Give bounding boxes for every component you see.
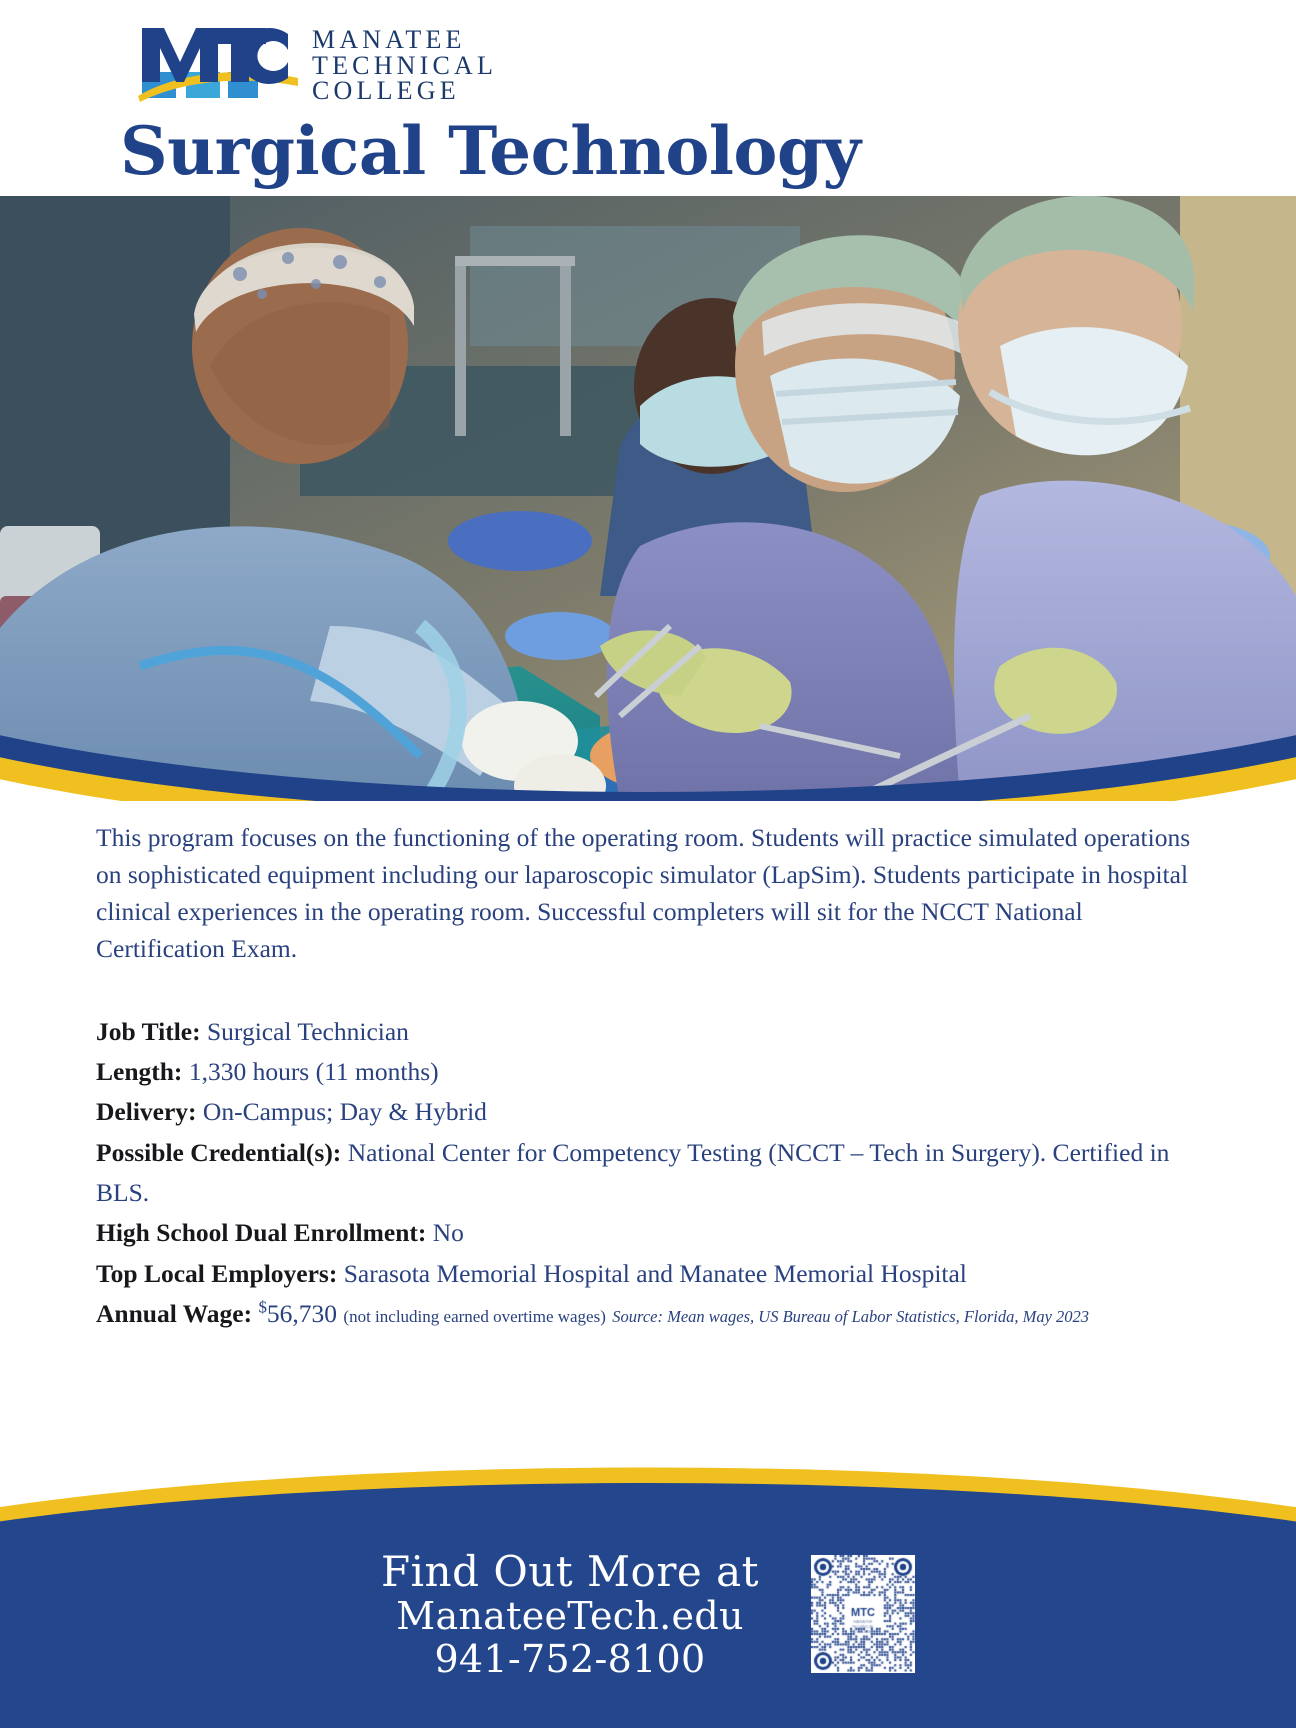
- fact-value: Surgical Technician: [207, 1017, 409, 1046]
- footer-contact: Find Out More at ManateeTech.edu 941-752…: [381, 1548, 759, 1680]
- operating-room-image: [0, 196, 1296, 801]
- fact-value: Sarasota Memorial Hospital and Manatee M…: [344, 1259, 967, 1288]
- mtc-logo: MANATEE TECHNICAL COLLEGE: [138, 22, 497, 106]
- footer-content: Find Out More at ManateeTech.edu 941-752…: [0, 1498, 1296, 1728]
- mtc-logo-wordmark: MANATEE TECHNICAL COLLEGE: [312, 27, 497, 104]
- currency-symbol: $: [259, 1297, 267, 1316]
- fact-label: Possible Credential(s):: [96, 1138, 341, 1167]
- program-description: This program focuses on the functioning …: [96, 820, 1200, 968]
- fact-top-local-employers: Top Local Employers: Sarasota Memorial H…: [96, 1254, 1200, 1294]
- page-header: MANATEE TECHNICAL COLLEGE Surgical Techn…: [0, 0, 1296, 196]
- hero-photo: [0, 196, 1296, 801]
- qr-code[interactable]: [811, 1555, 915, 1673]
- footer-line-find-out-more: Find Out More at: [381, 1548, 759, 1595]
- fact-high-school-dual-enrollment: High School Dual Enrollment: No: [96, 1213, 1200, 1253]
- wage-number: 56,730: [267, 1299, 337, 1328]
- fact-value: On-Campus; Day & Hybrid: [203, 1097, 487, 1126]
- flyer-page: MANATEE TECHNICAL COLLEGE Surgical Techn…: [0, 0, 1296, 1728]
- mtc-logo-mark-icon: [138, 22, 298, 106]
- fact-annual-wage: Annual Wage: $56,730 (not including earn…: [96, 1294, 1200, 1334]
- fact-label: Length:: [96, 1057, 182, 1086]
- program-facts-list: Job Title: Surgical Technician Length: 1…: [96, 1012, 1200, 1334]
- fact-value: 1,330 hours (11 months): [189, 1057, 439, 1086]
- fact-job-title: Job Title: Surgical Technician: [96, 1012, 1200, 1052]
- logo-line-college: COLLEGE: [312, 78, 497, 104]
- fact-label: Delivery:: [96, 1097, 197, 1126]
- wage-amount: $56,730: [259, 1299, 338, 1328]
- page-footer: Find Out More at ManateeTech.edu 941-752…: [0, 1428, 1296, 1728]
- fact-possible-credentials: Possible Credential(s): National Center …: [96, 1133, 1200, 1214]
- logo-line-technical: TECHNICAL: [312, 53, 497, 79]
- fact-label: Annual Wage:: [96, 1299, 252, 1328]
- fact-label: Top Local Employers:: [96, 1259, 337, 1288]
- wage-source: Source: Mean wages, US Bureau of Labor S…: [612, 1307, 1089, 1326]
- fact-length: Length: 1,330 hours (11 months): [96, 1052, 1200, 1092]
- page-title: Surgical Technology: [120, 112, 860, 190]
- fact-value: No: [433, 1218, 464, 1247]
- logo-line-manatee: MANATEE: [312, 27, 497, 53]
- footer-phone-number[interactable]: 941-752-8100: [381, 1638, 759, 1681]
- program-content: This program focuses on the functioning …: [0, 801, 1296, 1334]
- fact-label: High School Dual Enrollment:: [96, 1218, 426, 1247]
- fact-label: Job Title:: [96, 1017, 201, 1046]
- footer-website-link[interactable]: ManateeTech.edu: [381, 1595, 759, 1638]
- wage-note: (not including earned overtime wages): [343, 1307, 605, 1326]
- fact-delivery: Delivery: On-Campus; Day & Hybrid: [96, 1092, 1200, 1132]
